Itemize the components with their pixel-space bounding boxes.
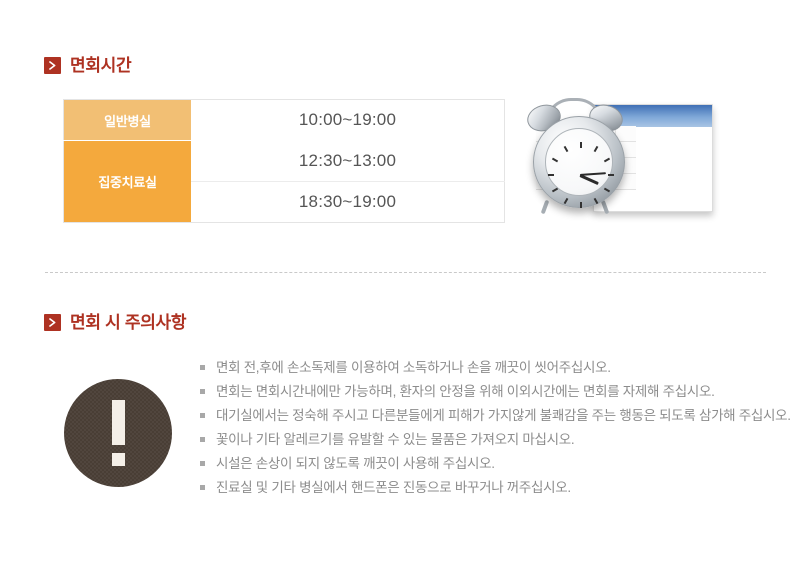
list-item: 대기실에서는 정숙해 주시고 다른분들에게 피해가 가지않게 불쾌감을 주는 행… <box>200 405 800 426</box>
visiting-hours-page: 면회시간 일반병실 10:00~19:00 집중치료실 12:30~13:00 … <box>0 0 811 580</box>
section-title-visit-hours: 면회시간 <box>70 57 131 74</box>
section-title-cautions: 면회 시 주의사항 <box>70 314 186 331</box>
list-item: 면회 전,후에 손소독제를 이용하여 소독하거나 손을 깨끗이 씻어주십시오. <box>200 357 800 378</box>
arrow-right-icon <box>44 314 61 331</box>
clock-body <box>533 116 625 208</box>
arrow-right-icon <box>44 57 61 74</box>
exclamation-mark-glyph <box>112 400 125 466</box>
table-row: 집중치료실 12:30~13:00 <box>64 141 505 182</box>
list-item: 꽃이나 기타 알레르기를 유발할 수 있는 물품은 가져오지 마십시오. <box>200 429 800 450</box>
clock-face <box>545 128 613 196</box>
row-label-general-ward: 일반병실 <box>64 100 192 141</box>
table-row: 일반병실 10:00~19:00 <box>64 100 505 141</box>
row-value-icu-time-2: 18:30~19:00 <box>191 181 505 222</box>
notice-list: 면회 전,후에 손소독제를 이용하여 소독하거나 손을 깨끗이 씻어주십시오. … <box>200 357 800 501</box>
exclamation-bar <box>112 400 125 445</box>
list-item: 진료실 및 기타 병실에서 핸드폰은 진동으로 바꾸거나 꺼주십시오. <box>200 477 800 498</box>
section-header-cautions: 면회 시 주의사항 <box>44 314 186 331</box>
list-item: 면회는 면회시간내에만 가능하며, 환자의 안정을 위해 이외시간에는 면회를 … <box>200 381 800 402</box>
section-divider <box>45 272 766 273</box>
alarm-clock-calendar-image <box>527 96 713 221</box>
list-item: 시설은 손상이 되지 않도록 깨끗이 사용해 주십시오. <box>200 453 800 474</box>
row-value-icu-time-1: 12:30~13:00 <box>191 141 505 182</box>
exclamation-dot <box>112 453 125 466</box>
row-label-icu: 집중치료실 <box>64 141 192 223</box>
clock-minute-hand <box>580 172 606 176</box>
visiting-hours-table: 일반병실 10:00~19:00 집중치료실 12:30~13:00 18:30… <box>63 99 505 223</box>
exclamation-circle-icon <box>64 379 172 487</box>
row-value-general-ward-time: 10:00~19:00 <box>191 100 505 141</box>
clock-foot-left <box>541 200 550 215</box>
section-header-visit-hours: 면회시간 <box>44 57 131 74</box>
